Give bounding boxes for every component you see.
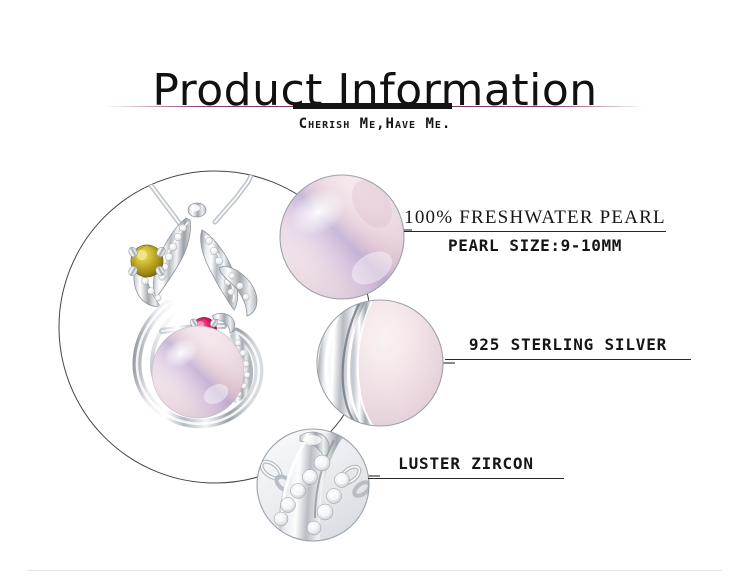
callout-pearl: 100% FRESHWATER PEARL PEARL SIZE:9-10MM xyxy=(404,206,666,258)
callout-pearl-line-2: PEARL SIZE:9-10MM xyxy=(404,232,666,258)
zircon-closeup-circle xyxy=(257,429,372,544)
yellow-gem xyxy=(127,245,167,277)
callout-zircon: LUSTER ZIRCON xyxy=(368,452,564,479)
divider-accent-bar xyxy=(293,103,452,109)
product-information-page: Product Information Cherish Me,Have Me. xyxy=(0,0,750,579)
bottom-border xyxy=(28,570,722,571)
callout-silver: 925 STERLING SILVER xyxy=(445,333,691,360)
callout-zircon-rule xyxy=(368,478,564,479)
callout-pearl-line-1: 100% FRESHWATER PEARL xyxy=(404,206,666,231)
pendant-pearl xyxy=(152,326,244,418)
callout-silver-rule xyxy=(445,359,691,360)
page-subtitle: Cherish Me,Have Me. xyxy=(0,116,750,132)
callout-silver-line-1: 925 STERLING SILVER xyxy=(445,333,691,359)
header-divider xyxy=(0,103,750,111)
callout-zircon-line-1: LUSTER ZIRCON xyxy=(368,452,564,478)
